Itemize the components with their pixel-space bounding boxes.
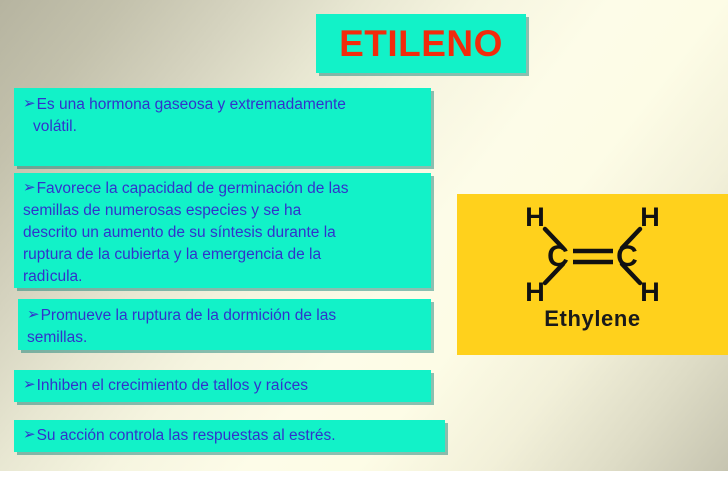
bullet-panel-4: ➢Inhiben el crecimiento de tallos y raíc… <box>14 370 431 402</box>
bullet-text: Es una hormona gaseosa y extremadamente <box>37 96 346 113</box>
bullet-text: Inhiben el crecimiento de tallos y raíce… <box>37 377 308 394</box>
presentation-slide: ETILENO ➢Es una hormona gaseosa y extrem… <box>0 0 728 501</box>
arrow-bullet-icon: ➢ <box>27 304 40 325</box>
bullet-line: semillas de numerosas especies y se ha <box>23 200 423 222</box>
arrow-bullet-icon: ➢ <box>23 177 36 198</box>
bullet-line: ➢Favorece la capacidad de germinación de… <box>23 178 423 200</box>
bullet-line: ➢Su acción controla las respuestas al es… <box>23 425 336 447</box>
slide-title-box: ETILENO <box>316 14 526 73</box>
bullet-text: Promueve la ruptura de la dormición de l… <box>41 307 337 324</box>
arrow-bullet-icon: ➢ <box>23 374 36 395</box>
bullet-line: ➢Promueve la ruptura de la dormición de … <box>27 305 423 327</box>
bullet-text: Favorece la capacidad de germinación de … <box>37 180 349 197</box>
bullet-panel-1: ➢Es una hormona gaseosa y extremadamente… <box>14 88 431 166</box>
bullet-panel-5: ➢Su acción controla las respuestas al es… <box>14 420 445 452</box>
ethylene-structure-figure: C C H H H H Ethylene <box>457 194 728 355</box>
slide-footer-band <box>0 471 728 501</box>
atom-label-hydrogen-top-right: H <box>640 202 660 232</box>
bullet-text: Su acción controla las respuestas al est… <box>37 427 336 444</box>
ethylene-molecule-diagram: C C H H H H <box>457 194 728 314</box>
ethylene-caption: Ethylene <box>457 306 728 332</box>
atom-label-carbon-right: C <box>616 240 638 273</box>
bullet-line: descrito un aumento de su síntesis duran… <box>23 222 423 244</box>
arrow-bullet-icon: ➢ <box>23 93 36 114</box>
arrow-bullet-icon: ➢ <box>23 424 36 445</box>
atom-label-carbon-left: C <box>547 240 569 273</box>
bullet-line: ruptura de la cubierta y la emergencia d… <box>23 244 423 266</box>
bullet-line: ➢Es una hormona gaseosa y extremadamente <box>23 94 423 116</box>
bullet-line: semillas. <box>27 327 423 349</box>
bullet-text: volátil. <box>33 118 77 135</box>
bullet-panel-2: ➢Favorece la capacidad de germinación de… <box>14 173 431 288</box>
slide-title-text: ETILENO <box>339 25 503 62</box>
bullet-panel-3: ➢Promueve la ruptura de la dormición de … <box>18 299 431 350</box>
atom-label-hydrogen-top-left: H <box>525 202 545 232</box>
atom-label-hydrogen-bottom-left: H <box>525 277 545 307</box>
bullet-line: volátil. <box>23 116 423 138</box>
atom-label-hydrogen-bottom-right: H <box>640 277 660 307</box>
bullet-line: radìcula. <box>23 266 423 288</box>
bullet-line: ➢Inhiben el crecimiento de tallos y raíc… <box>23 375 308 397</box>
